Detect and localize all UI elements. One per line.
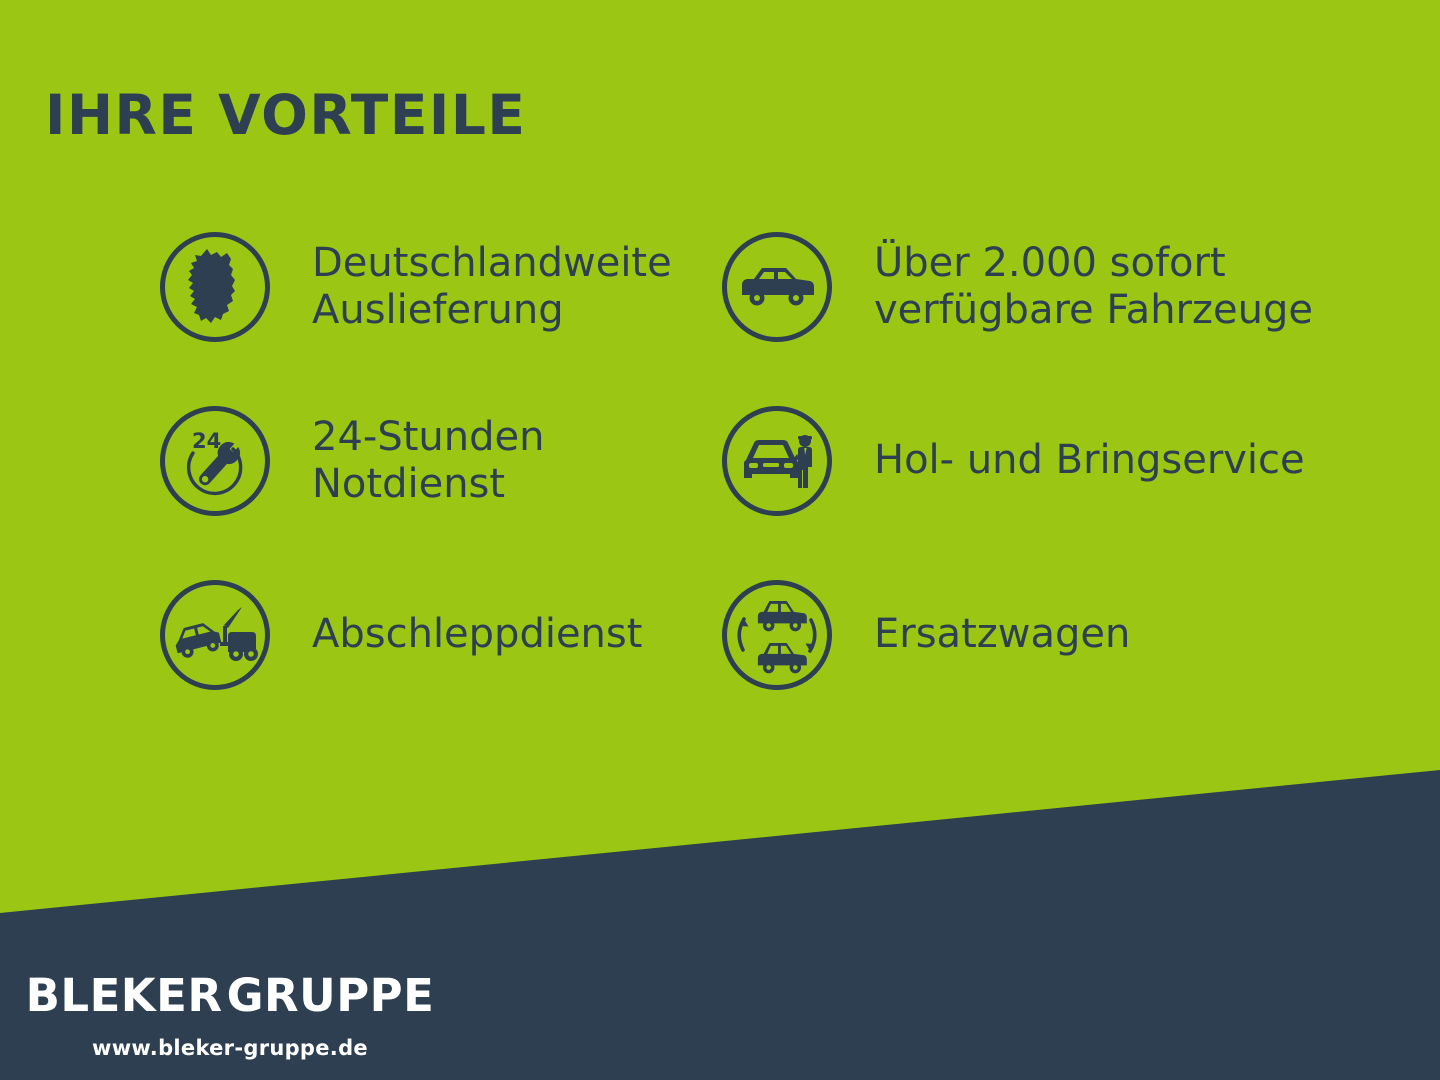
benefit-item-verfuegbare-fahrzeuge[interactable]: Über 2.000 sofort verfügbare Fahrzeuge: [722, 222, 1313, 352]
page-title: IHRE VORTEILE: [45, 88, 526, 143]
benefit-item-deutschlandweite-auslieferung[interactable]: Deutschlandweite Auslieferung: [160, 222, 672, 352]
benefit-label: Deutschlandweite Auslieferung: [312, 240, 672, 334]
slide-root: IHRE VORTEILE Deutschlandweite Ausliefer…: [0, 0, 1440, 1080]
car-exchange-icon: [722, 580, 832, 690]
footer-logo[interactable]: BLEKER GRUPPE www.bleker-gruppe.de: [30, 964, 430, 1060]
tow-truck-icon: [160, 580, 270, 690]
24h-wrench-icon: 24: [160, 406, 270, 516]
benefit-item-24-stunden-notdienst[interactable]: 24 24-Stunden Notdienst: [160, 396, 544, 526]
benefit-label: 24-Stunden Notdienst: [312, 414, 544, 508]
benefit-label: Abschleppdienst: [312, 611, 642, 658]
logo-url[interactable]: www.bleker-gruppe.de: [30, 1036, 430, 1060]
benefit-label: Ersatzwagen: [874, 611, 1130, 658]
logo-text-bleker: BLEKER: [26, 973, 223, 1018]
benefit-row: Abschleppdienst: [0, 570, 1440, 744]
benefit-label: Über 2.000 sofort verfügbare Fahrzeuge: [874, 240, 1313, 334]
benefit-item-abschleppdienst[interactable]: Abschleppdienst: [160, 570, 642, 700]
benefit-label: Hol- und Bringservice: [874, 437, 1305, 484]
logo-text-gruppe: GRUPPE: [227, 973, 435, 1018]
benefit-row: 24 24-Stunden Notdienst: [0, 396, 1440, 570]
car-side-icon: [722, 232, 832, 342]
benefit-item-ersatzwagen[interactable]: Ersatzwagen: [722, 570, 1130, 700]
benefit-item-hol-und-bringservice[interactable]: Hol- und Bringservice: [722, 396, 1305, 526]
svg-text:24: 24: [192, 429, 221, 453]
car-attendant-icon: [722, 406, 832, 516]
benefits-grid: Deutschlandweite Auslieferung Über 2.000…: [0, 222, 1440, 744]
benefit-row: Deutschlandweite Auslieferung Über 2.000…: [0, 222, 1440, 396]
logo-wordmark: BLEKER GRUPPE: [30, 964, 430, 1026]
germany-map-icon: [160, 232, 270, 342]
